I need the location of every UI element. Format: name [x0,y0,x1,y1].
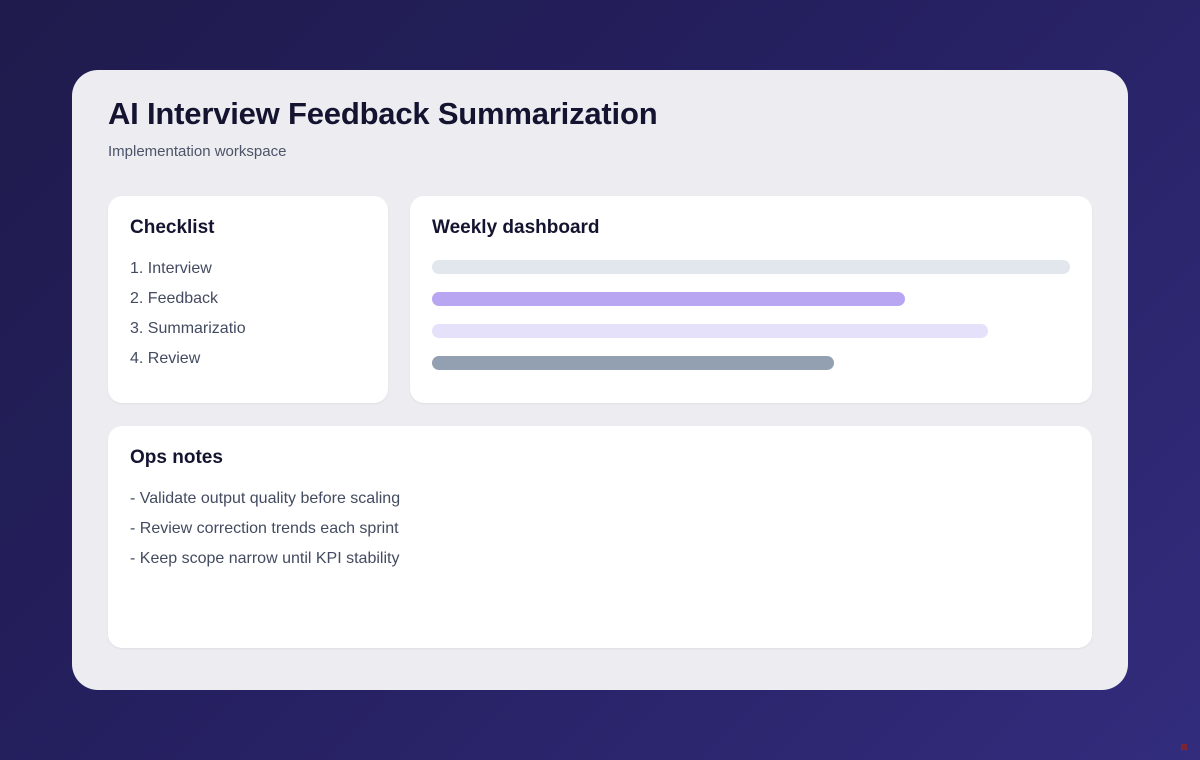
dashboard-bar-3 [432,324,988,338]
checklist-card-title: Checklist [130,216,366,240]
ops-note-item: - Review correction trends each sprint [130,514,1070,544]
ops-notes-card: Ops notes - Validate output quality befo… [108,426,1092,648]
bar-track [432,260,1070,274]
dashboard-bar-4 [432,356,834,370]
checklist-item[interactable]: 1. Interview [130,254,366,284]
page-subtitle: Implementation workspace [108,142,1092,162]
checklist-card: Checklist 1. Interview 2. Feedback 3. Su… [108,196,388,403]
checklist-list: 1. Interview 2. Feedback 3. Summarizatio… [130,254,366,374]
workspace-panel: AI Interview Feedback Summarization Impl… [72,70,1128,690]
dashboard-bar-2 [432,292,905,306]
cards-row: Checklist 1. Interview 2. Feedback 3. Su… [108,196,1092,403]
ops-note-item: - Validate output quality before scaling [130,484,1070,514]
dashboard-bar-1 [432,260,1070,274]
checklist-item[interactable]: 4. Review [130,344,366,374]
checklist-item[interactable]: 2. Feedback [130,284,366,314]
ops-notes-list: - Validate output quality before scaling… [130,484,1070,574]
dashboard-card-title: Weekly dashboard [432,216,1070,240]
marker-dot [1181,744,1187,750]
checklist-item[interactable]: 3. Summarizatio [130,314,366,344]
bar-track [432,292,1070,306]
weekly-dashboard-card: Weekly dashboard [410,196,1092,403]
ops-notes-card-title: Ops notes [130,446,1070,470]
dashboard-bars [432,260,1070,370]
ops-note-item: - Keep scope narrow until KPI stability [130,544,1070,574]
page-header: AI Interview Feedback Summarization Impl… [108,94,1092,162]
bar-track [432,324,1070,338]
bar-track [432,356,1070,370]
page-title: AI Interview Feedback Summarization [108,94,1092,134]
